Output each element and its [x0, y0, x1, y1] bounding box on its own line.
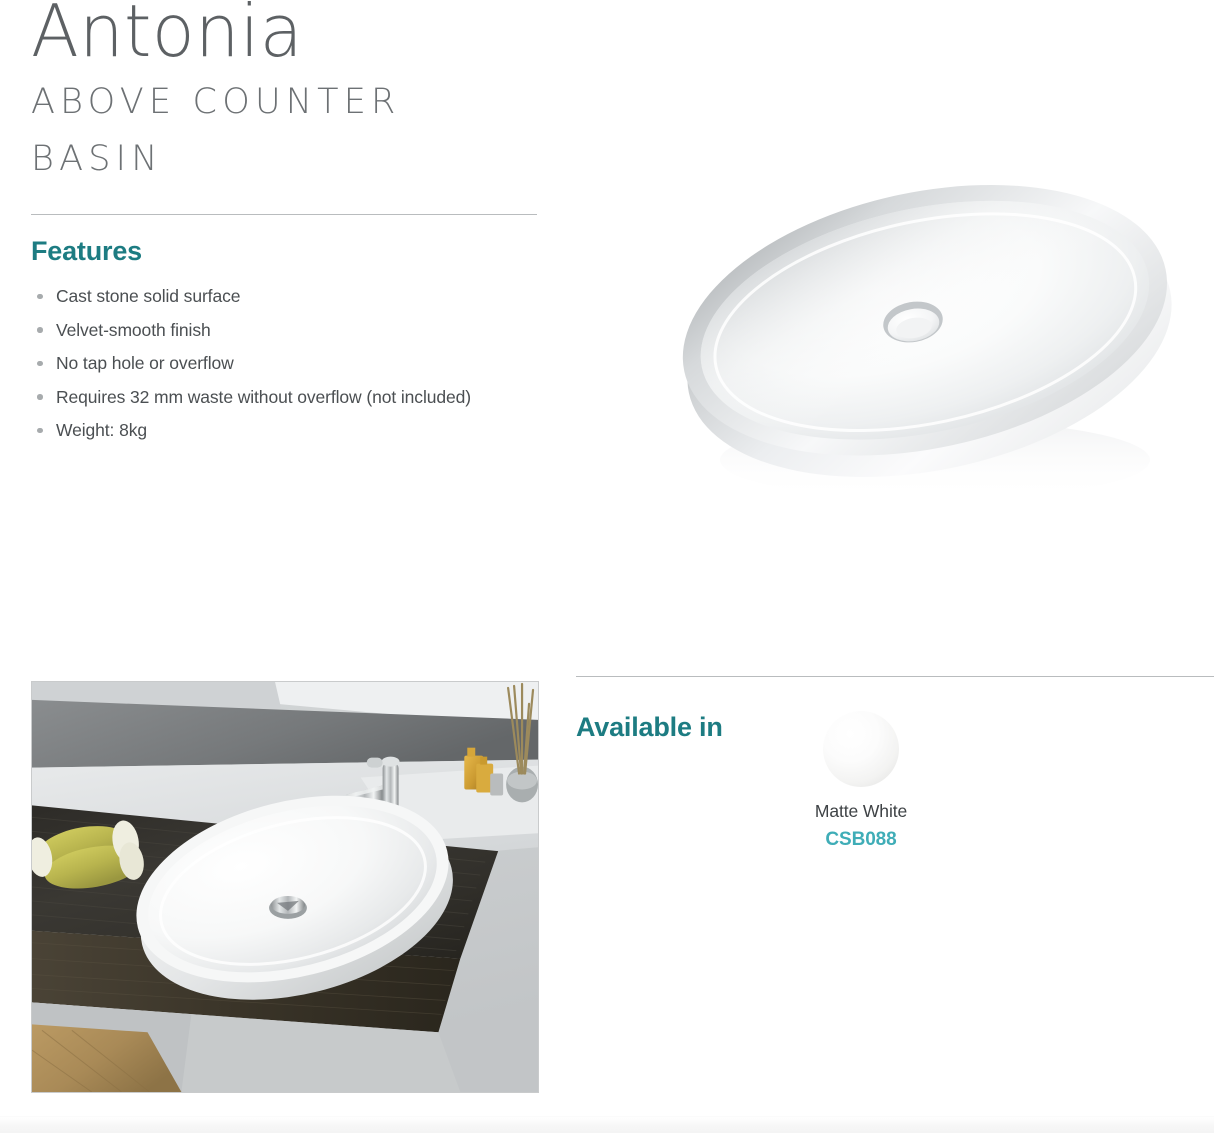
colour-swatch-matte-white[interactable]: Matte White CSB088 — [776, 711, 946, 851]
title-block: Antonia ABOVE COUNTER BASIN — [31, 0, 561, 188]
available-in-heading: Available in — [576, 712, 723, 743]
features-heading: Features — [31, 236, 531, 267]
product-hero-image — [655, 130, 1200, 520]
features-section: Features Cast stone solid surface Velvet… — [31, 236, 531, 452]
photo-waste — [269, 896, 307, 919]
feature-text: Requires 32 mm waste without overflow (n… — [56, 387, 471, 407]
list-item: No tap hole or overflow — [31, 351, 531, 376]
title-divider — [31, 214, 537, 215]
list-item: Cast stone solid surface — [31, 284, 531, 309]
available-divider — [576, 676, 1214, 677]
features-list: Cast stone solid surface Velvet-smooth f… — [31, 284, 531, 443]
product-spec-page: Antonia ABOVE COUNTER BASIN Features Cas… — [0, 0, 1214, 1133]
feature-text: No tap hole or overflow — [56, 353, 234, 373]
swatch-code: CSB088 — [776, 829, 946, 851]
bullet-icon — [37, 294, 43, 300]
swatch-ball-icon[interactable] — [823, 711, 899, 787]
bullet-icon — [37, 327, 43, 333]
page-title: Antonia — [31, 0, 545, 70]
list-item: Velvet-smooth finish — [31, 318, 531, 343]
feature-text: Weight: 8kg — [56, 420, 147, 440]
bullet-icon — [37, 394, 43, 400]
bullet-icon — [37, 428, 43, 434]
list-item: Requires 32 mm waste without overflow (n… — [31, 385, 531, 410]
footer-band — [0, 1116, 1214, 1133]
feature-text: Velvet-smooth finish — [56, 320, 211, 340]
lifestyle-photo — [31, 681, 539, 1093]
list-item: Weight: 8kg — [31, 418, 531, 443]
feature-text: Cast stone solid surface — [56, 286, 240, 306]
bullet-icon — [37, 361, 43, 367]
product-subtitle: ABOVE COUNTER BASIN — [31, 74, 561, 188]
swatch-name: Matte White — [776, 801, 946, 822]
